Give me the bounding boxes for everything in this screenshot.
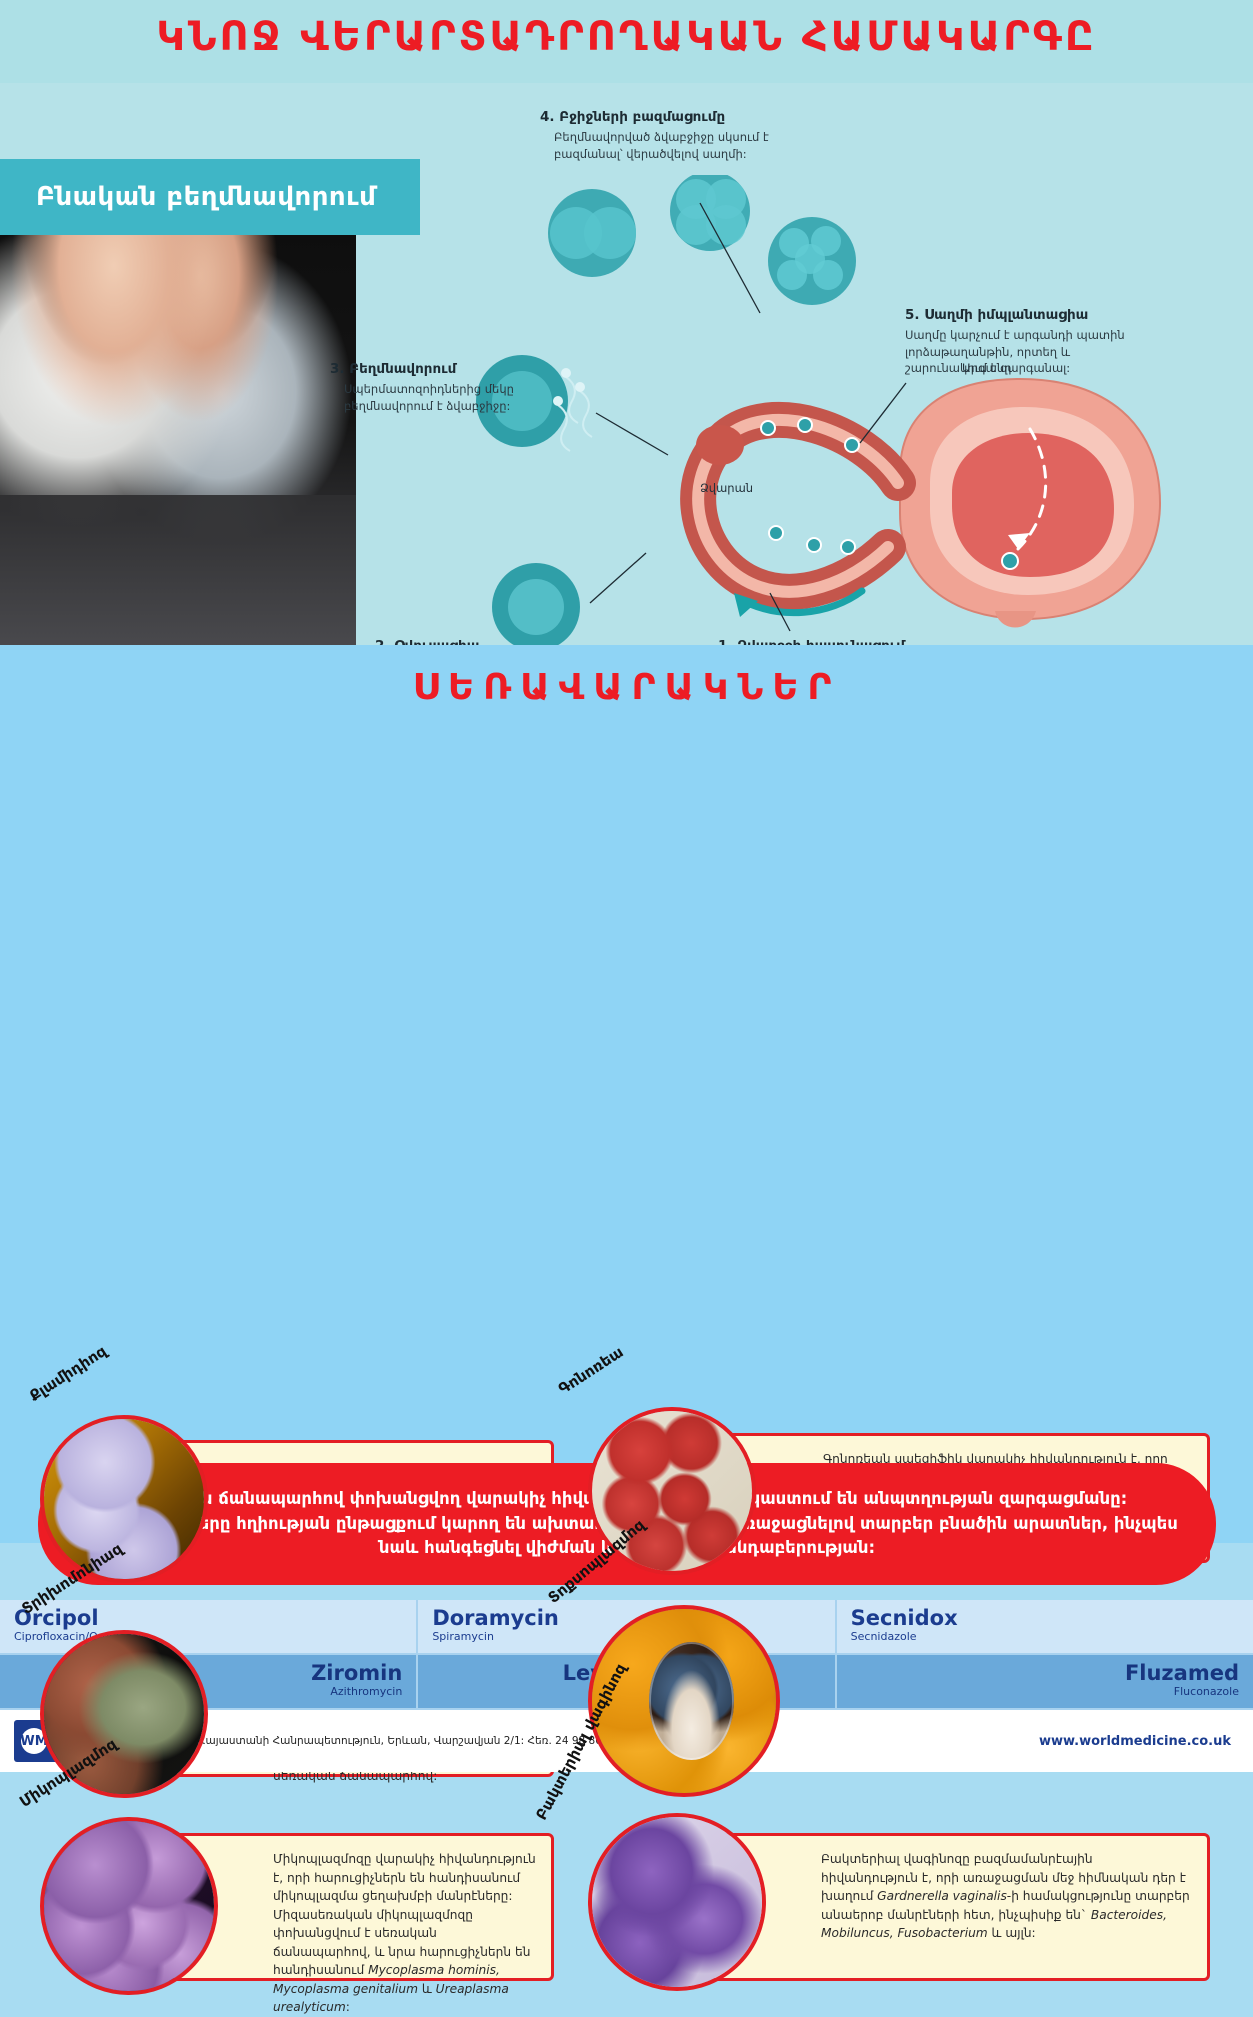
callout-step-3-body: Սպերմատոզոիդներից մեկը բեղմնավորում է ձվ… (330, 381, 590, 414)
product-generic: Fluconazole (851, 1685, 1239, 1698)
natural-conception-label: Բնական բեղմնավորում (36, 182, 376, 212)
anatomy-label-ovary: Ձվարան (700, 481, 753, 495)
product-name: Orcipol (14, 1606, 402, 1630)
two-cell-stage (548, 189, 636, 277)
embryo-cleavage-stages (540, 175, 870, 365)
egg-in-tube-2 (798, 418, 812, 432)
callout-step-1-title: 1. Ձվաբջջի հասունացում (718, 638, 968, 645)
endometrium (952, 433, 1114, 577)
sti-section-title: ՍԵՌԱՎԱՐԱԿՆԵՐ (0, 667, 1253, 708)
toxoplasma-micrograph (588, 1605, 780, 1797)
morula-stage (768, 217, 856, 305)
callout-step-4-title: 4. Բջիջների բազմացումը (540, 109, 820, 125)
pathogen-text-bacterial-vaginosis: Բակտերիալ վագինոզը բազմամանրէային հիվանդ… (821, 1850, 1193, 1943)
product-orcipol[interactable]: Orcipol Ciprofloxacin/Ornidazole (0, 1600, 418, 1655)
reproduction-diagram: Բնական բեղմնավորում (0, 83, 1253, 645)
uterus-illustration (600, 333, 1240, 633)
callout-step-3-title: 3. Բեղմնավորում (330, 361, 590, 377)
callout-step-5-body: Սաղմը կարչում է արգանդի պատին լորձաթաղան… (905, 327, 1155, 377)
pathogen-card-bacterial-vaginosis: Բակտերիալ վագինոզը բազմամանրէային հիվանդ… (690, 1833, 1210, 1981)
footer-address: Հայաստանի Հանրապետություն, Երևան, Վարշավ… (198, 1735, 605, 1747)
pathogen-label-chlamydia: Քլամիդիոզ (26, 1342, 110, 1405)
product-name: Secnidox (851, 1606, 1239, 1630)
poster-root: ԿՆՈՋ ՎԵՐԱՐՏԱԴՐՈՂԱԿԱՆ ՀԱՄԱԿԱՐԳԸ Բնական բե… (0, 0, 1253, 1772)
pathogen-text-mycoplasmosis: Միկոպլազմոզը վարակիչ հիվանդություն է, որ… (273, 1850, 537, 2017)
pathogen-label-gonorrhea: Գոնոռեա (555, 1343, 626, 1398)
chlamydia-micrograph (40, 1415, 208, 1583)
fimbriae (696, 425, 744, 465)
callout-step-5-title: 5. Սաղմի իմպլանտացիա (905, 307, 1155, 323)
egg-in-tube-4 (769, 526, 783, 540)
cervix (995, 611, 1036, 628)
product-generic: Ciprofloxacin/Ornidazole (14, 1630, 402, 1643)
callout-step-5: 5. Սաղմի իմպլանտացիա Սաղմը կարչում է արգ… (905, 307, 1155, 377)
callout-step-3: 3. Բեղմնավորում Սպերմատոզոիդներից մեկը բ… (330, 361, 590, 414)
four-cell-stage (670, 175, 750, 251)
cat-photo-inset (649, 1642, 734, 1760)
sti-section: ՍԵՌԱՎԱՐԱԿՆԵՐ Քլամիդիոզ Քլամիդիոզը միզասե… (0, 645, 1253, 1543)
egg-in-tube-1 (761, 421, 775, 435)
implanted-embryo (1002, 553, 1018, 569)
callout-step-2: 2. Օվուլյացիա Ձվաբջիջը լքում է ձվարանը և… (375, 638, 635, 645)
photo-lower-shade (0, 495, 356, 645)
product-fluzamed[interactable]: Fluzamed Fluconazole (837, 1655, 1253, 1710)
egg-in-tube-5 (807, 538, 821, 552)
title-band: ԿՆՈՋ ՎԵՐԱՐՏԱԴՐՈՂԱԿԱՆ ՀԱՄԱԿԱՐԳԸ (0, 0, 1253, 83)
product-name: Fluzamed (851, 1661, 1239, 1685)
anatomy-label-uterus: Արգանդ (962, 361, 1012, 375)
footer-website[interactable]: www.worldmedicine.co.uk (1039, 1734, 1231, 1749)
egg-in-tube-6 (841, 540, 855, 554)
product-generic: Secnidazole (851, 1630, 1239, 1643)
product-secnidox[interactable]: Secnidox Secnidazole (837, 1600, 1253, 1655)
natural-conception-banner: Բնական բեղմնավորում (0, 159, 420, 235)
bacterial-vaginosis-micrograph (588, 1813, 766, 1991)
callout-step-1: 1. Ձվաբջջի հասունացում Ձվաբջիջը հասունան… (718, 638, 968, 645)
egg-in-tube-3 (845, 438, 859, 452)
mycoplasma-micrograph (40, 1817, 218, 1995)
callout-step-4-body: Բեղմնավորված ձվաբջիջը սկսում է բազմանալ՝… (540, 129, 820, 162)
callout-step-2-title: 2. Օվուլյացիա (375, 638, 635, 645)
ovulation-egg (480, 553, 610, 645)
page-title: ԿՆՈՋ ՎԵՐԱՐՏԱԴՐՈՂԱԿԱՆ ՀԱՄԱԿԱՐԳԸ (0, 14, 1253, 60)
callout-step-4: 4. Բջիջների բազմացումը Բեղմնավորված ձվաբ… (540, 109, 820, 162)
